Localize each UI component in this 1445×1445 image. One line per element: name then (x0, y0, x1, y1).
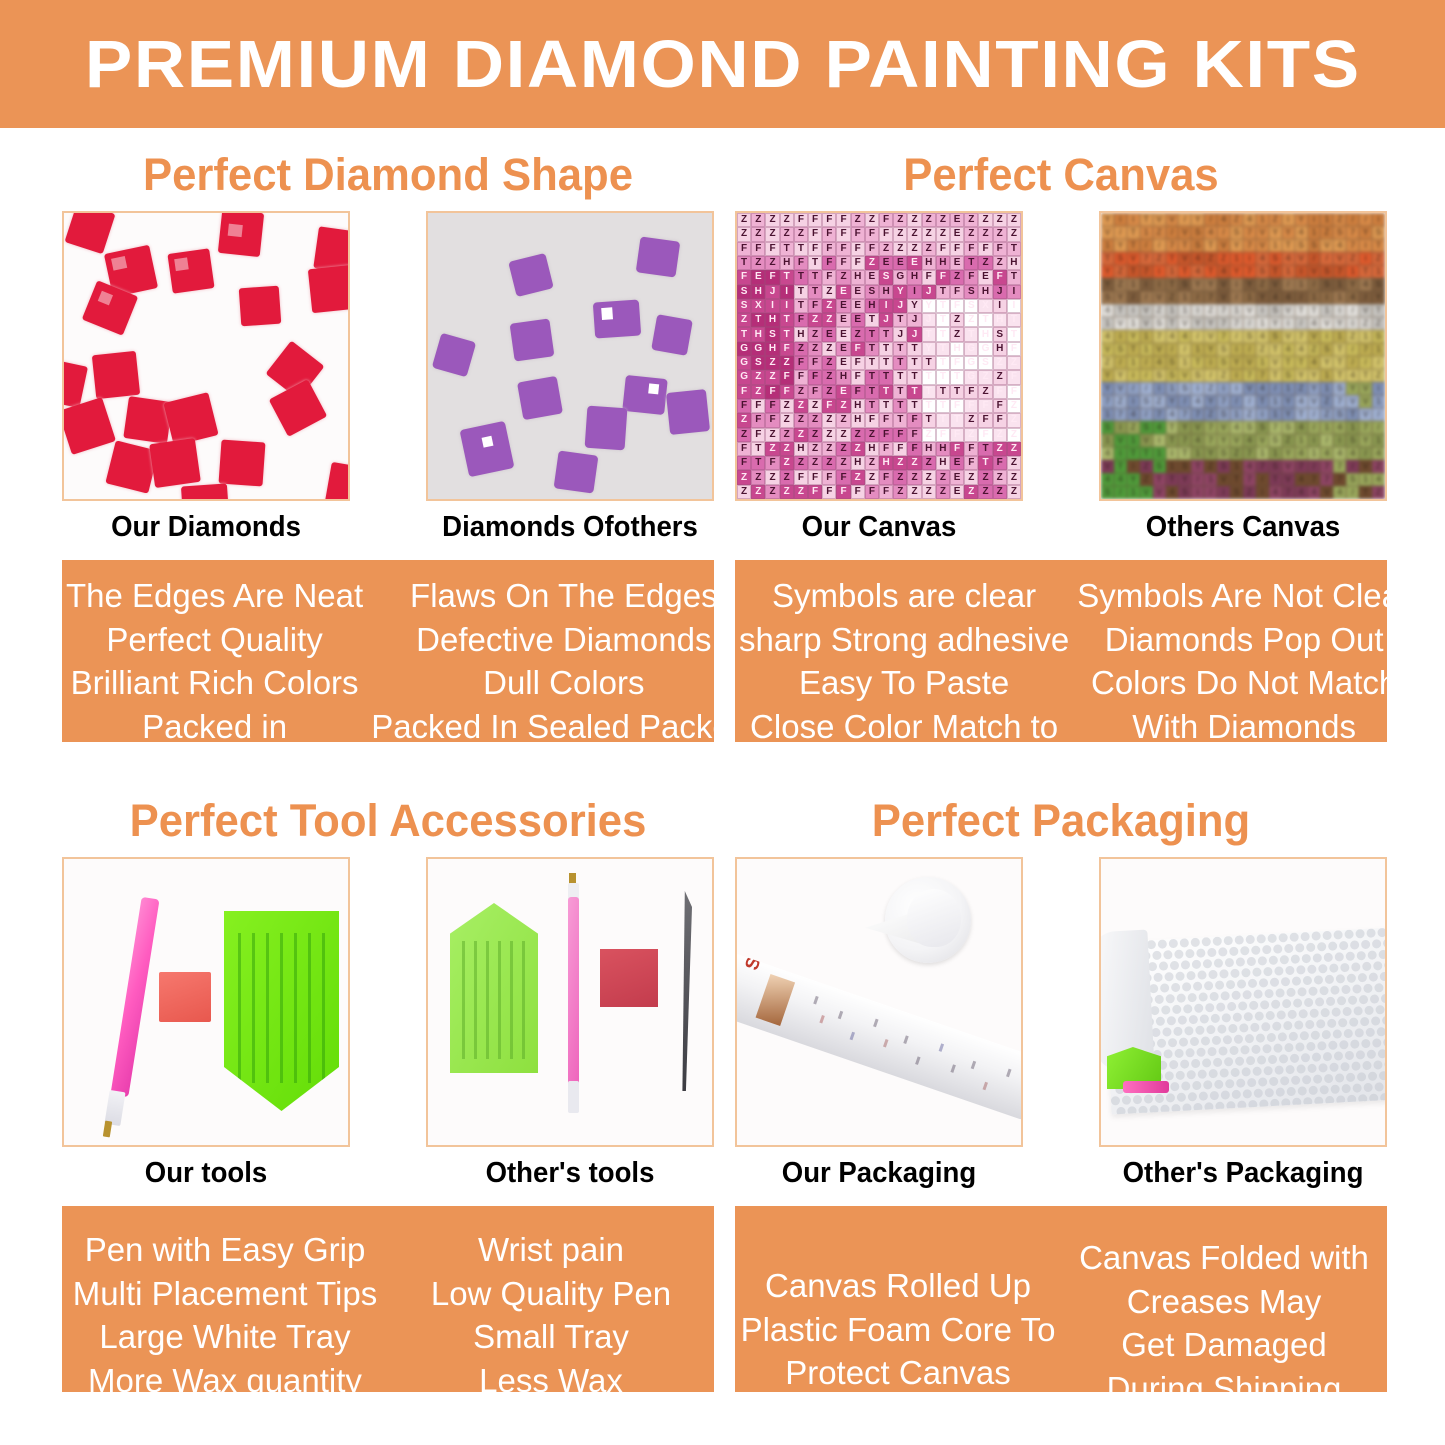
diamond-bead (239, 286, 282, 327)
bubble-texture-dot (1274, 966, 1283, 975)
canvas-cell: E (865, 270, 879, 284)
bubble-texture-dot (1339, 941, 1348, 950)
canvas-symbol-grid: ZZZZFFFFZZFZZZZEZZZZZZZZZFFFFFFZZZZEZZZZ… (737, 213, 1021, 499)
canvas-cell: T (808, 285, 822, 299)
bubble-texture-dot (1341, 985, 1350, 994)
canvas-cell: S (1178, 278, 1191, 291)
canvas-cell: V (1217, 291, 1230, 304)
canvas-cell: H (851, 413, 865, 427)
canvas-cell: Z (1127, 421, 1140, 434)
canvas-cell: Z (1230, 447, 1243, 460)
canvas-cell: Y (1282, 395, 1295, 408)
canvas-cell: T (879, 399, 893, 413)
canvas-cell: 4 (1243, 434, 1256, 447)
canvas-cell: 7 (1243, 239, 1256, 252)
canvas-cell: F (993, 385, 1007, 399)
bubble-texture-dot (1372, 939, 1381, 948)
canvas-cell: / (1243, 343, 1256, 356)
canvas-cell: V (1114, 434, 1127, 447)
canvas-cell: Y (1101, 278, 1114, 291)
canvas-cell: 7 (1320, 460, 1333, 473)
bubble-texture-dot (1184, 1026, 1193, 1035)
canvas-cell: 1 (1166, 265, 1179, 278)
canvas-cell: Z (907, 456, 921, 470)
canvas-cell: Z (737, 313, 751, 327)
canvas-cell: F (879, 485, 893, 499)
section-diamond-shape: Perfect Diamond Shape (62, 152, 714, 742)
canvas-cell: 1 (1101, 239, 1114, 252)
canvas-cell: 7 (1359, 343, 1372, 356)
bubble-texture-dot (1315, 997, 1324, 1006)
canvas-cell: Z (922, 485, 936, 499)
bubble-texture-dot (1236, 1078, 1245, 1087)
bubble-texture-dot (1212, 1036, 1221, 1045)
bubble-texture-dot (1324, 953, 1333, 962)
canvas-cell: F (794, 470, 808, 484)
bubble-texture-dot (1279, 1054, 1288, 1063)
canvas-cell: / (1372, 356, 1385, 369)
canvas-cell: Z (808, 428, 822, 442)
canvas-cell: F (851, 356, 865, 370)
bubble-texture-dot (1251, 1045, 1260, 1054)
canvas-cell: Z (780, 456, 794, 470)
canvas-cell: 1 (1359, 473, 1372, 486)
canvas-cell: Z (922, 456, 936, 470)
canvas-cell: Z (765, 485, 779, 499)
bubble-texture-dot (1302, 1075, 1311, 1084)
canvas-cell: S (1320, 265, 1333, 278)
canvas-cell: Y (1269, 317, 1282, 330)
peeking-pen (1123, 1081, 1169, 1093)
bubble-texture-dot (1218, 947, 1227, 956)
canvas-cell: S (1243, 330, 1256, 343)
panel-others-tools (426, 857, 714, 1147)
canvas-cell: V (1308, 265, 1321, 278)
canvas-cell: T (907, 385, 921, 399)
canvas-cell: F (836, 213, 850, 227)
canvas-cell: 7 (1333, 473, 1346, 486)
canvas-cell: 4 (1191, 265, 1204, 278)
bubble-texture-dot (1249, 1001, 1258, 1010)
canvas-cell: Y (893, 285, 907, 299)
canvas-cell: S (1282, 369, 1295, 382)
canvas-cell: S (978, 356, 992, 370)
bubble-texture-dot (1290, 1054, 1299, 1063)
canvas-cell: Z (1372, 369, 1385, 382)
canvas-cell: T (1295, 356, 1308, 369)
canvas-cell: Z (1153, 304, 1166, 317)
bubble-texture-dot (1367, 950, 1376, 959)
canvas-cell: S (1217, 460, 1230, 473)
bubble-texture-dot (1198, 992, 1207, 1001)
canvas-cell: Z (1333, 213, 1346, 226)
bubble-texture-dot (1311, 1030, 1320, 1039)
canvas-cell: / (1178, 343, 1191, 356)
canvas-cell: T (737, 256, 751, 270)
canvas-cell: H (936, 256, 950, 270)
canvas-cell: 4 (1333, 447, 1346, 460)
canvas-cell: F (836, 485, 850, 499)
canvas-cell: T (1166, 434, 1179, 447)
canvas-cell: V (1217, 473, 1230, 486)
canvas-cell: V (1127, 252, 1140, 265)
canvas-cell: 1 (1282, 265, 1295, 278)
canvas-cell: Y (1204, 395, 1217, 408)
canvas-cell: E (950, 213, 964, 227)
canvas-cell: F (836, 256, 850, 270)
canvas-cell: T (879, 342, 893, 356)
canvas-cell: E (950, 227, 964, 241)
bubble-texture-dot (1144, 1094, 1153, 1103)
bubble-texture-dot (1161, 1005, 1170, 1014)
bubble-texture-dot (1287, 1010, 1296, 1019)
canvas-cell: 4 (1346, 291, 1359, 304)
canvas-cell: Z (1204, 460, 1217, 473)
canvas-cell: 4 (1372, 473, 1385, 486)
canvas-cell: T (1359, 486, 1372, 499)
canvas-cell: Z (780, 428, 794, 442)
caption-others-tools: Other's tools (433, 1159, 707, 1188)
canvas-cell: V (1359, 382, 1372, 395)
bubble-texture-dot (1219, 1068, 1228, 1077)
canvas-cell: F (851, 227, 865, 241)
canvas-cell: T (879, 327, 893, 341)
bubble-texture-dot (1211, 1014, 1220, 1023)
canvas-cell: F (794, 356, 808, 370)
bubble-texture-dot (1308, 1086, 1317, 1095)
bubble-texture-dot (1163, 950, 1172, 959)
canvas-cell: 4 (1101, 330, 1114, 343)
canvas-cell: / (1282, 278, 1295, 291)
canvas-cell: Z (907, 470, 921, 484)
canvas-cell: Z (964, 213, 978, 227)
bubble-texture-dot (1274, 1065, 1283, 1074)
bubble-texture-dot (1384, 961, 1387, 970)
bubble-texture-dot (1235, 935, 1244, 944)
bubble-texture-dot (1318, 1063, 1327, 1072)
bubble-texture-dot (1347, 974, 1356, 983)
canvas-cell: S (1178, 486, 1191, 499)
bubble-texture-dot (1383, 1038, 1387, 1047)
canvas-cell: Y (1308, 382, 1321, 395)
canvas-cell: Y (1243, 278, 1256, 291)
canvas-cell: J (993, 285, 1007, 299)
bubble-texture-dot (1298, 1009, 1307, 1018)
canvas-cell: Z (808, 342, 822, 356)
canvas-cell: G (737, 370, 751, 384)
canvas-cell: F (964, 385, 978, 399)
canvas-cell: / (1346, 343, 1359, 356)
canvas-cell: T (1269, 343, 1282, 356)
canvas-cell: T (1127, 239, 1140, 252)
canvas-cell: Y (1114, 369, 1127, 382)
canvas-cell: Y (1178, 473, 1191, 486)
bubble-texture-dot (1351, 1061, 1360, 1070)
canvas-cell: / (1269, 382, 1282, 395)
bubble-texture-dot (1340, 963, 1349, 972)
canvas-cell: T (922, 399, 936, 413)
canvas-cell: F (765, 399, 779, 413)
canvas-cell: 4 (1295, 395, 1308, 408)
canvas-cell: S (1140, 421, 1153, 434)
canvas-cell: Y (1217, 434, 1230, 447)
canvas-cell: S (751, 356, 765, 370)
bubble-texture-dot (1385, 983, 1387, 992)
canvas-cell: Z (822, 413, 836, 427)
canvas-cell: V (1359, 395, 1372, 408)
canvas-cell: G (964, 342, 978, 356)
canvas-cell: H (851, 399, 865, 413)
canvas-cell: 7 (1243, 369, 1256, 382)
canvas-cell: 1 (1191, 343, 1204, 356)
bubble-texture-dot (1265, 1088, 1274, 1097)
canvas-cell: S (879, 270, 893, 284)
canvas-cell: F (822, 270, 836, 284)
canvas-cell: 7 (1217, 395, 1230, 408)
canvas-cell: 4 (1101, 304, 1114, 317)
pen-grip (568, 1081, 579, 1113)
canvas-cell: 4 (1295, 226, 1308, 239)
canvas-cell: / (1230, 291, 1243, 304)
canvas-cell: Y (1269, 226, 1282, 239)
canvas-cell: T (751, 442, 765, 456)
bubble-texture-dot (1304, 998, 1313, 1007)
canvas-cell: T (1140, 447, 1153, 460)
canvas-cell: Y (1114, 239, 1127, 252)
bubble-texture-dot (1237, 979, 1246, 988)
canvas-cell: T (794, 242, 808, 256)
canvas-cell: T (950, 413, 964, 427)
canvas-cell: Z (1153, 395, 1166, 408)
bubble-texture-dot (1333, 930, 1342, 939)
canvas-cell: V (1320, 486, 1333, 499)
canvas-cell: T (1256, 395, 1269, 408)
bubble-texture-dot (1196, 948, 1205, 957)
canvas-cell: 1 (1178, 356, 1191, 369)
canvas-cell: / (1308, 421, 1321, 434)
canvas-cell: T (1282, 356, 1295, 369)
canvas-cell: i (1230, 369, 1243, 382)
bubble-texture-dot (1291, 954, 1300, 963)
canvas-cell: i (1282, 213, 1295, 226)
bubble-texture-dot (1359, 995, 1368, 1004)
canvas-cell: F (950, 285, 964, 299)
bubble-texture-dot (1275, 988, 1284, 997)
bubble-texture-dot (1235, 1056, 1244, 1065)
canvas-cell: Z (1308, 343, 1321, 356)
canvas-cell: S (1114, 252, 1127, 265)
canvas-cell: F (808, 213, 822, 227)
canvas-cell: Z (993, 485, 1007, 499)
canvas-cell: Z (879, 242, 893, 256)
canvas-cell: T (1178, 265, 1191, 278)
canvas-cell: 1 (1372, 265, 1385, 278)
canvas-cell: Z (1359, 317, 1372, 330)
canvas-cell: i (1204, 356, 1217, 369)
bubble-texture-dot (1218, 1046, 1227, 1055)
canvas-cell: Z (851, 442, 865, 456)
diamond-bead (92, 351, 140, 399)
header-banner: PREMIUM DIAMOND PAINTING KITS (0, 0, 1445, 128)
canvas-cell: 7 (1282, 486, 1295, 499)
canvas-cell: Z (765, 442, 779, 456)
canvas-cell: T (1191, 356, 1204, 369)
canvas-cell: T (936, 356, 950, 370)
bubble-texture-dot (1247, 1078, 1256, 1087)
canvas-cell: V (1140, 317, 1153, 330)
canvas-cell: 7 (1101, 395, 1114, 408)
canvas-cell: S (1140, 395, 1153, 408)
canvas-cell: V (1140, 304, 1153, 317)
canvas-cell: Y (1359, 434, 1372, 447)
canvas-cell: T (808, 270, 822, 284)
bubble-texture-dot (1284, 1043, 1293, 1052)
bubble-texture-dot (1313, 953, 1322, 962)
canvas-cell: T (1166, 473, 1179, 486)
canvas-cell: Z (794, 399, 808, 413)
bubble-texture-dot (1227, 1002, 1236, 1011)
bubble-texture-dot (1194, 1004, 1203, 1013)
bubble-texture-dot (1197, 970, 1206, 979)
canvas-cell: 4 (1308, 356, 1321, 369)
canvas-cell: T (922, 356, 936, 370)
canvas-cell: Z (936, 485, 950, 499)
canvas-cell: 4 (1166, 330, 1179, 343)
canvas-cell: E (907, 256, 921, 270)
bubble-texture-dot (1164, 972, 1173, 981)
canvas-cell: F (950, 356, 964, 370)
canvas-cell: T (893, 413, 907, 427)
canvas-cell: Z (978, 370, 992, 384)
canvas-cell: S (1153, 460, 1166, 473)
caption-our-diamonds: Our Diamonds (69, 513, 343, 542)
canvas-cell: S (1372, 226, 1385, 239)
canvas-cell: Z (865, 470, 879, 484)
section-title-tools: Perfect Tool Accessories (72, 798, 704, 843)
bubble-texture-dot (1174, 1049, 1183, 1058)
canvas-cell: V (1269, 356, 1282, 369)
canvas-cell: / (1295, 291, 1308, 304)
canvas-cell: Z (1204, 252, 1217, 265)
canvas-cell: V (1295, 252, 1308, 265)
canvas-cell: 4 (1346, 369, 1359, 382)
bubble-texture-dot (1244, 1012, 1253, 1021)
page-title: PREMIUM DIAMOND PAINTING KITS (85, 31, 1361, 98)
bubble-texture-dot (1213, 1058, 1222, 1067)
diamond-bead (651, 314, 693, 356)
bubble-texture-dot (1331, 1007, 1340, 1016)
canvas-cell: Z (936, 470, 950, 484)
bubble-texture-dot (1374, 983, 1383, 992)
bubble-texture-dot (1190, 1037, 1199, 1046)
bubble-texture-dot (1297, 987, 1306, 996)
canvas-cell: Z (808, 413, 822, 427)
bubble-texture-dot (1357, 951, 1366, 960)
canvas-cell: i (1359, 239, 1372, 252)
bubble-texture-dot (1317, 942, 1326, 951)
canvas-cell: V (1320, 317, 1333, 330)
bubble-texture-dot (1177, 1093, 1186, 1102)
canvas-cell: Z (1320, 408, 1333, 421)
bubble-texture-dot (1276, 1010, 1285, 1019)
canvas-cell: S (1191, 239, 1204, 252)
bubble-texture-dot (1188, 1092, 1197, 1101)
canvas-cell: i (1166, 447, 1179, 460)
canvas-cell: T (907, 399, 921, 413)
canvas-cell: S (1178, 460, 1191, 473)
bubble-texture-dot (1282, 999, 1291, 1008)
bubble-texture-dot (1214, 958, 1223, 967)
canvas-cell: 4 (1243, 460, 1256, 473)
canvas-cell: 7 (1166, 239, 1179, 252)
canvas-cell: / (1140, 356, 1153, 369)
canvas-cell: Y (1333, 317, 1346, 330)
bubble-texture-dot (1225, 1079, 1234, 1088)
canvas-cell: / (1204, 486, 1217, 499)
canvas-cell: S (1269, 330, 1282, 343)
canvas-cell: Z (765, 356, 779, 370)
canvas-cell: Z (822, 299, 836, 313)
caption-others-packaging: Other's Packaging (1106, 1159, 1380, 1188)
canvas-cell: V (1243, 304, 1256, 317)
canvas-cell: Z (794, 227, 808, 241)
canvas-cell: F (964, 399, 978, 413)
bubble-texture-dot (1263, 967, 1272, 976)
bubble-texture-dot (1289, 1032, 1298, 1041)
bubble-texture-dot (1233, 1013, 1242, 1022)
canvas-cell: Z (780, 356, 794, 370)
canvas-cell: S (1256, 265, 1269, 278)
canvas-cell: V (1217, 278, 1230, 291)
bubble-texture-dot (1307, 1064, 1316, 1073)
canvas-cell: 7 (1230, 317, 1243, 330)
canvas-cell: Z (978, 256, 992, 270)
canvas-cell: 4 (1333, 421, 1346, 434)
canvas-cell: F (893, 442, 907, 456)
canvas-cell: T (936, 327, 950, 341)
canvas-cell: F (737, 399, 751, 413)
bubble-texture-dot (1335, 952, 1344, 961)
bubble-texture-dot (1187, 993, 1196, 1002)
bubble-texture-dot (1301, 1053, 1310, 1062)
canvas-cell: X (978, 299, 992, 313)
canvas-cell: T (865, 327, 879, 341)
canvas-cell: 1 (1333, 278, 1346, 291)
diamond-tray-small (450, 903, 538, 1073)
canvas-cell: Z (1114, 278, 1127, 291)
canvas-cell: Z (794, 456, 808, 470)
canvas-cell: S (765, 327, 779, 341)
canvas-cell: S (1372, 278, 1385, 291)
canvas-cell: Z (1166, 291, 1179, 304)
canvas-cell: T (865, 385, 879, 399)
bubble-texture-dot (1289, 932, 1298, 941)
bubble-texture-dot (1181, 1081, 1190, 1090)
bubble-texture-dot (1127, 1106, 1136, 1114)
bubble-texture-dot (1333, 1029, 1342, 1038)
canvas-cell: H (950, 342, 964, 356)
canvas-cell: S (1269, 252, 1282, 265)
bubble-texture-dot (1278, 933, 1287, 942)
bubble-texture-dot (1330, 985, 1339, 994)
diamond-bead (149, 438, 201, 488)
canvas-cell: S (1101, 291, 1114, 304)
canvas-cell: T (978, 442, 992, 456)
bubble-texture-dot (1294, 1020, 1303, 1029)
canvas-cell: Y (1308, 369, 1321, 382)
bubble-texture-dot (1355, 929, 1364, 938)
canvas-cell: T (893, 342, 907, 356)
